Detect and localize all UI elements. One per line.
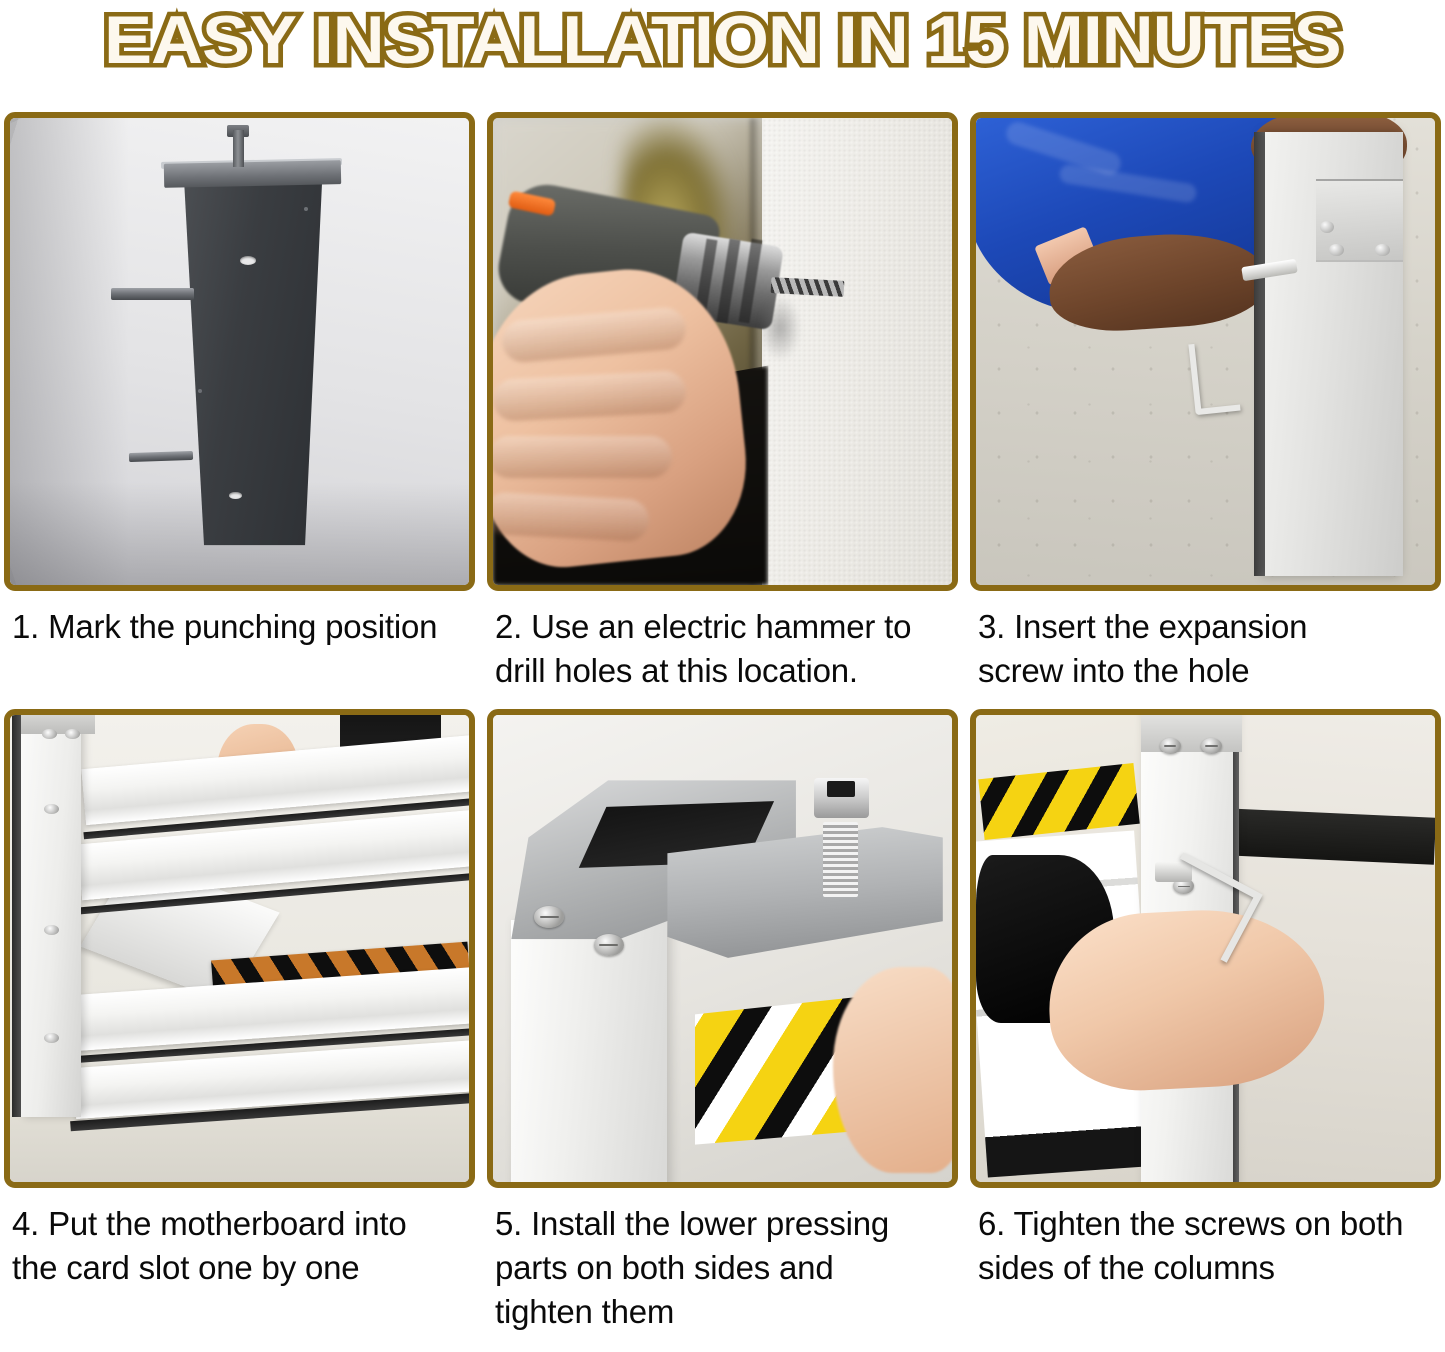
step-5-photo-lower-pressing-parts (493, 715, 952, 1182)
step-5: 5. Install the lower pressing parts on b… (487, 709, 958, 1334)
marking-hole-upper (240, 256, 257, 265)
step-6-caption-line-2: sides of the columns (978, 1246, 1435, 1290)
step-3-caption-line-1: 3. Insert the expansion (978, 605, 1435, 649)
step-3: 3. Insert the expansion screw into the h… (970, 112, 1441, 693)
step-6-caption-line-1: 6. Tighten the screws on both (978, 1202, 1435, 1246)
step-2-caption: 2. Use an electric hammer to drill holes… (487, 591, 958, 693)
hex-bolt-thread (823, 822, 857, 897)
protruding-bolt-upper (111, 288, 194, 299)
step-5-caption: 5. Install the lower pressing parts on b… (487, 1188, 958, 1334)
step-2-caption-line-1: 2. Use an electric hammer to (495, 605, 952, 649)
threaded-rod (233, 130, 244, 167)
step-5-caption-line-2: parts on both sides and (495, 1246, 952, 1290)
banner: EASY INSTALLATION IN 15 MINUTES (0, 0, 1445, 112)
step-2: 2. Use an electric hammer to drill holes… (487, 112, 958, 693)
column-cap-plate (164, 161, 341, 189)
step-4-photo-insert-boards-card-slot (10, 715, 469, 1182)
column-top-plate (1141, 715, 1242, 752)
step-4-caption-line-1: 4. Put the motherboard into (12, 1202, 469, 1246)
step-2-caption-line-2: drill holes at this location. (495, 649, 952, 693)
step-2-photo-frame (487, 112, 958, 591)
step-1-caption-line-1: 1. Mark the punching position (12, 605, 469, 649)
step-6: 6. Tighten the screws on both sides of t… (970, 709, 1441, 1334)
step-4-caption: 4. Put the motherboard into the card slo… (4, 1188, 475, 1290)
allen-key-on-floor (1188, 340, 1240, 416)
step-2-photo-drill-holes (493, 118, 952, 585)
white-column (511, 920, 667, 1182)
hand-supporting-board (833, 967, 952, 1172)
step-5-caption-line-1: 5. Install the lower pressing (495, 1202, 952, 1246)
installation-steps-grid: 1. Mark the punching position (0, 112, 1445, 1334)
step-1-caption: 1. Mark the punching position (4, 591, 475, 649)
step-6-photo-frame (970, 709, 1441, 1188)
step-3-caption: 3. Insert the expansion screw into the h… (970, 591, 1441, 693)
mounting-column (180, 181, 322, 545)
step-1-photo-frame (4, 112, 475, 591)
step-5-photo-frame (487, 709, 958, 1188)
step-6-caption: 6. Tighten the screws on both sides of t… (970, 1188, 1441, 1290)
step-4-photo-frame (4, 709, 475, 1188)
step-3-photo-insert-expansion-screw (976, 118, 1435, 585)
white-column-with-slots (21, 715, 81, 1117)
step-1-photo-mark-punching-position (10, 118, 469, 585)
step-3-caption-line-2: screw into the hole (978, 649, 1435, 693)
step-4-caption-line-2: the card slot one by one (12, 1246, 469, 1290)
step-4: 4. Put the motherboard into the card slo… (4, 709, 475, 1334)
floor-skirting (1223, 808, 1435, 864)
step-3-photo-frame (970, 112, 1441, 591)
step-1: 1. Mark the punching position (4, 112, 475, 693)
step-5-caption-line-3: tighten them (495, 1290, 952, 1334)
marking-hole-lower (229, 492, 242, 499)
page-title: EASY INSTALLATION IN 15 MINUTES (104, 2, 1341, 78)
step-6-photo-tighten-column-screws (976, 715, 1435, 1182)
